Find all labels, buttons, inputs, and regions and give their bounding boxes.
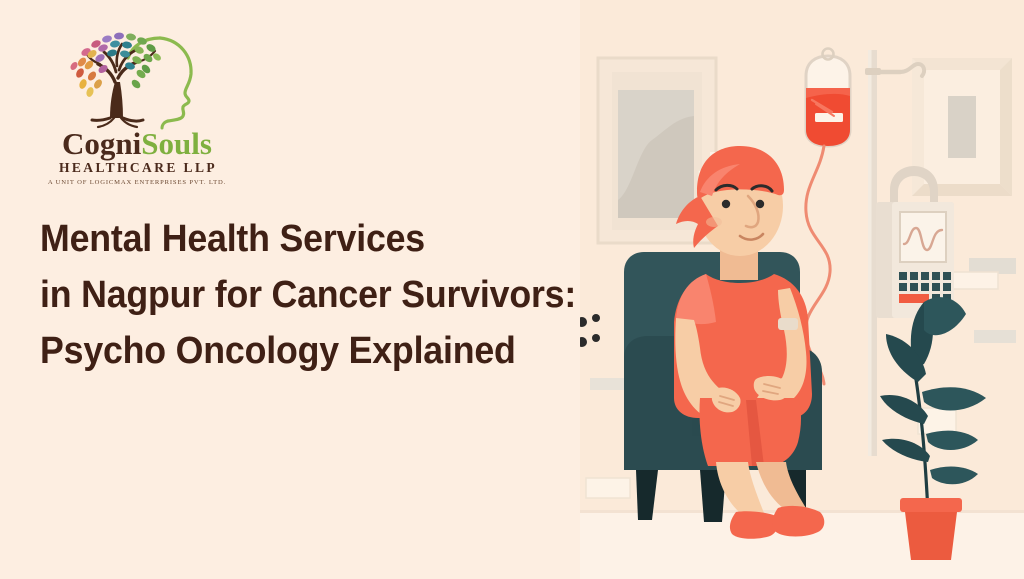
shoe-right — [772, 506, 824, 537]
chemotherapy-patient-illustration — [580, 0, 1024, 579]
illustration-canvas — [580, 0, 1024, 579]
left-content-panel: CogniSouls HEALTHCARE LLP A UNIT OF LOGI… — [0, 0, 586, 579]
plant-pot-rim — [900, 498, 962, 512]
brand-logo[interactable]: CogniSouls HEALTHCARE LLP A UNIT OF LOGI… — [32, 22, 242, 186]
plant-pot — [905, 512, 957, 560]
tree-brain-logo-icon — [52, 22, 222, 130]
iv-bag — [806, 49, 850, 147]
headline-line-1: Mental Health Services — [40, 212, 538, 268]
page-title: Mental Health Services in Nagpur for Can… — [40, 212, 570, 380]
iv-bandage — [778, 318, 798, 330]
patient-eye-left — [722, 200, 730, 208]
logo-tagline: A UNIT OF LOGICMAX ENTERPRISES PVT. LTD. — [32, 179, 242, 186]
logo-word-cogni: Cogni — [62, 126, 141, 161]
patient-eye-right — [756, 200, 764, 208]
blog-banner: CogniSouls HEALTHCARE LLP A UNIT OF LOGI… — [0, 0, 1024, 579]
shoe-left — [730, 511, 778, 539]
headline-line-2: in Nagpur for Cancer Survivors: — [40, 268, 538, 324]
logo-subtitle: HEALTHCARE LLP — [32, 160, 242, 176]
headline-line-3: Psycho Oncology Explained — [40, 324, 538, 380]
logo-wordmark: CogniSouls — [32, 128, 242, 159]
logo-word-souls: Souls — [141, 126, 212, 161]
